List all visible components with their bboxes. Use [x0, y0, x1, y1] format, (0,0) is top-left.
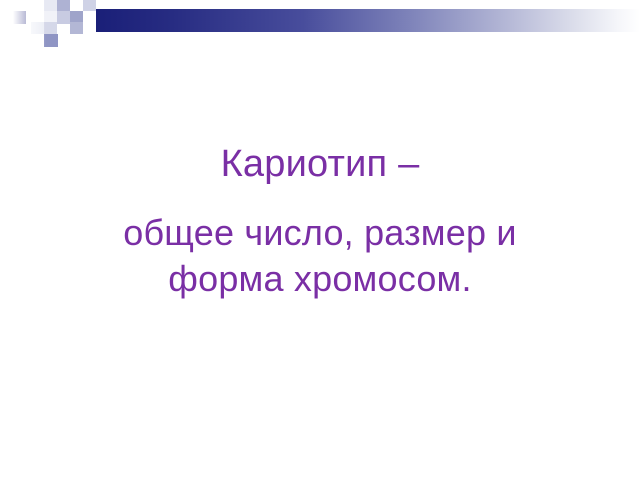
square-mid-d: [44, 22, 57, 34]
header-decoration: [0, 0, 640, 52]
gradient-bar: [96, 9, 640, 32]
square-mid-e: [70, 22, 83, 34]
square-dark: [13, 11, 26, 24]
slide-canvas: Кариотип – общее число, размер и форма х…: [0, 0, 640, 480]
square-mid-low: [44, 34, 58, 47]
square-mid-b: [57, 11, 70, 24]
square-pale-d: [31, 22, 44, 34]
body-line-2: общее число, размер и: [48, 210, 592, 256]
slide-body-text: Кариотип – общее число, размер и форма х…: [48, 140, 592, 302]
body-line-1: Кариотип –: [48, 140, 592, 188]
square-mid-top: [57, 0, 70, 11]
body-line-3: форма хромосом.: [48, 256, 592, 302]
square-pale-b: [83, 0, 96, 11]
square-pale-a: [44, 0, 57, 11]
